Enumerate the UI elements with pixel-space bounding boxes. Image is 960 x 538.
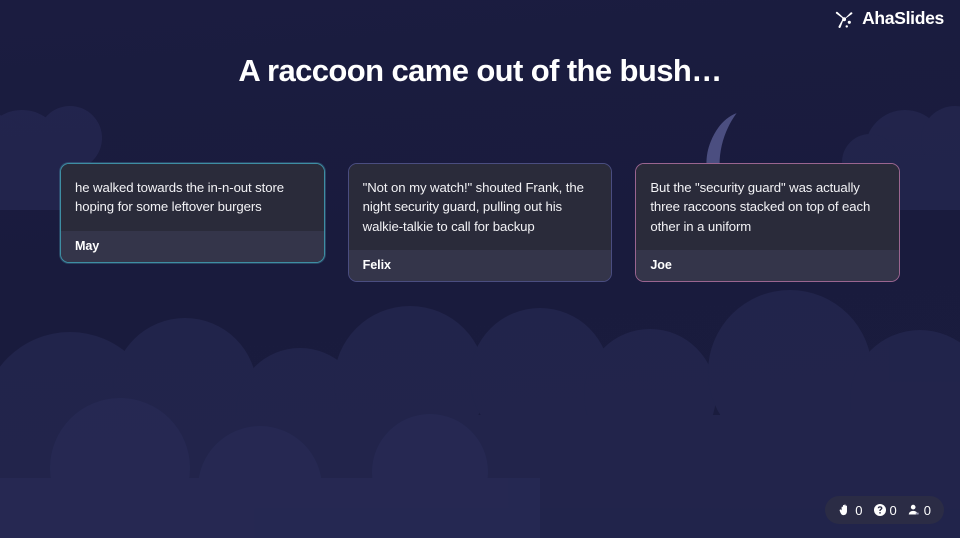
story-card-text: he walked towards the in-n-out store hop…	[61, 164, 324, 231]
question-mark-circle-icon	[873, 503, 887, 517]
story-card-author: Joe	[636, 250, 899, 281]
questions-count: 0	[890, 504, 897, 517]
brand-name: AhaSlides	[862, 10, 944, 28]
raised-hands-count: 0	[855, 504, 862, 517]
story-card-author: May	[61, 231, 324, 262]
person-icon	[907, 503, 921, 517]
participants-counter[interactable]: 0	[907, 503, 931, 517]
story-card-text: But the "security guard" was actually th…	[636, 164, 899, 250]
story-card[interactable]: he walked towards the in-n-out store hop…	[60, 163, 325, 263]
slide-canvas: AhaSlides A raccoon came out of the bush…	[0, 0, 960, 538]
status-badge[interactable]: 0 0 0	[825, 496, 944, 524]
participants-count: 0	[924, 504, 931, 517]
story-card-text: "Not on my watch!" shouted Frank, the ni…	[349, 164, 612, 250]
raised-hand-icon	[838, 503, 852, 517]
story-card[interactable]: But the "security guard" was actually th…	[635, 163, 900, 282]
questions-counter[interactable]: 0	[873, 503, 897, 517]
ahaslides-logo: AhaSlides	[833, 8, 944, 30]
sparkle-asterisk-icon	[833, 8, 855, 30]
story-card-list: he walked towards the in-n-out store hop…	[60, 163, 900, 282]
raised-hands-counter[interactable]: 0	[838, 503, 862, 517]
story-card-author: Felix	[349, 250, 612, 281]
page-title: A raccoon came out of the bush…	[0, 52, 960, 89]
story-card[interactable]: "Not on my watch!" shouted Frank, the ni…	[348, 163, 613, 282]
